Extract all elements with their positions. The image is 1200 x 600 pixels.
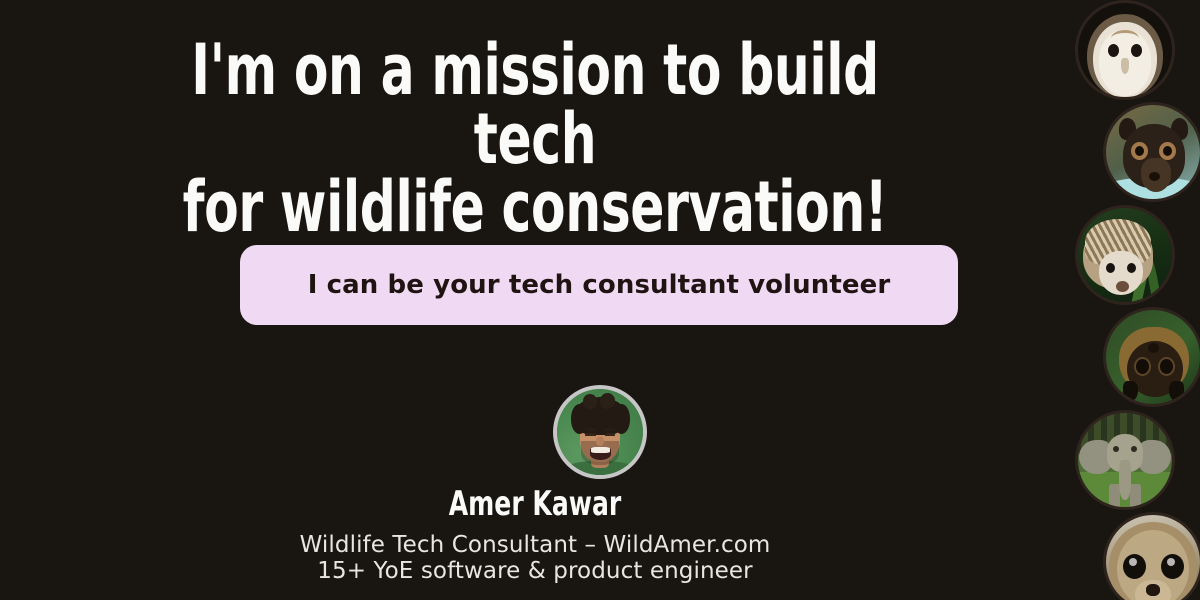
- elephant-icon: [1075, 410, 1175, 510]
- main-content-column: I'm on a mission to build tech for wildl…: [0, 0, 1070, 600]
- slide-canvas: I'm on a mission to build tech for wildl…: [0, 0, 1200, 600]
- avatar: [553, 385, 647, 479]
- cta-button[interactable]: I can be your tech consultant volunteer: [240, 245, 958, 325]
- page-title: I'm on a mission to build tech for wildl…: [175, 36, 895, 242]
- headline-line-1: I'm on a mission to build tech: [191, 29, 878, 180]
- animal-thumb-elephant: [1075, 410, 1175, 510]
- profile-subtitle-1: Wildlife Tech Consultant – WildAmer.com: [0, 532, 1070, 559]
- hedgehog-icon: [1075, 205, 1175, 305]
- barn-owl-icon: [1075, 0, 1175, 100]
- animal-thumb-seal-pup: [1103, 512, 1200, 600]
- seal-pup-icon: [1103, 512, 1200, 600]
- fruit-bat-icon: [1103, 307, 1200, 407]
- animal-thumb-barn-owl: [1075, 0, 1175, 100]
- animal-thumb-flying-fox-bat: [1103, 102, 1200, 202]
- profile-subtitle-2: 15+ YoE software & product engineer: [0, 558, 1070, 585]
- headline-line-2: for wildlife conservation!: [175, 173, 895, 242]
- avatar-photo: [557, 389, 643, 475]
- flying-fox-bat-icon: [1103, 102, 1200, 202]
- animal-thumb-fruit-bat: [1103, 307, 1200, 407]
- animal-thumb-hedgehog: [1075, 205, 1175, 305]
- profile-name: Amer Kawar: [96, 487, 973, 521]
